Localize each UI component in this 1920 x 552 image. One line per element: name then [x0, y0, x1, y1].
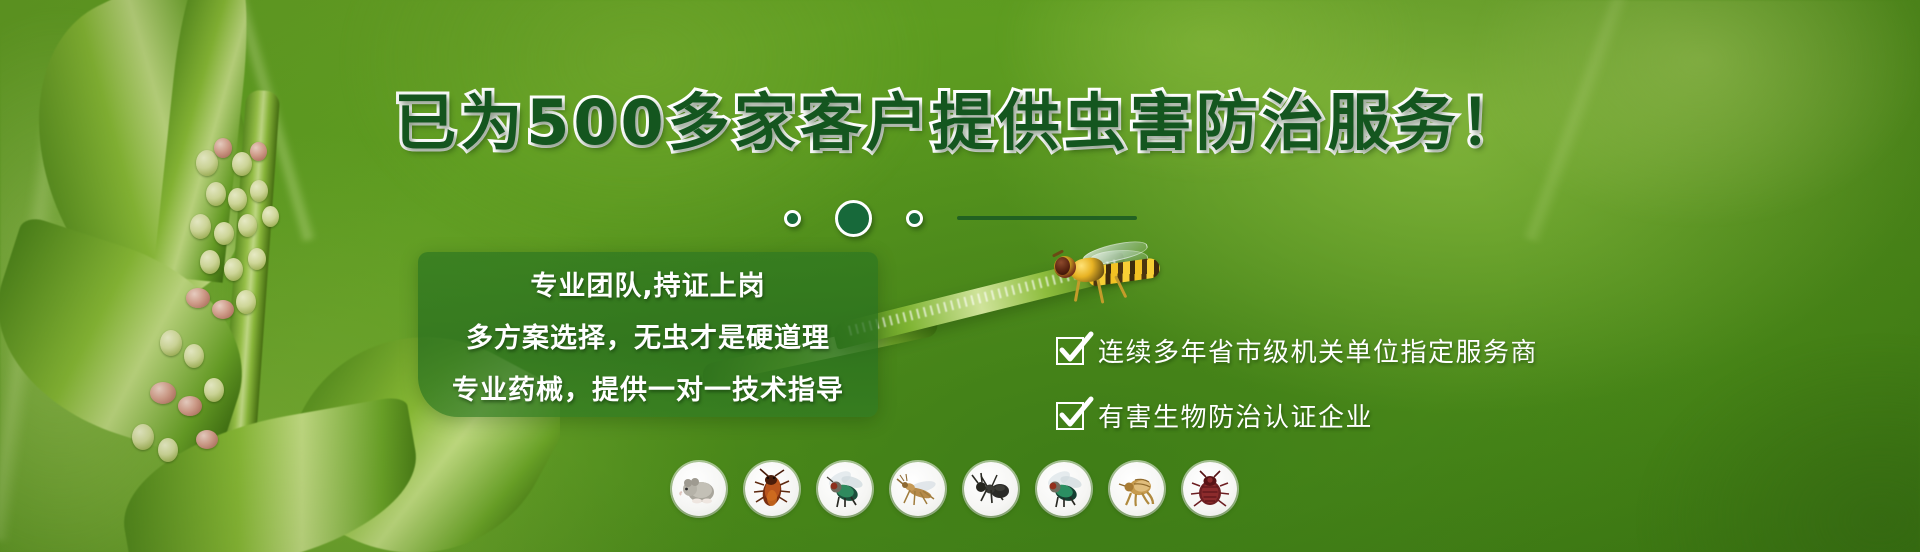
promise-line-3: 专业药械，提供一对一技术指导 — [418, 368, 878, 407]
pest-icon-strip — [672, 462, 1237, 516]
credential-item: 有害生物防治认证企业 — [1056, 397, 1538, 434]
checkbox-checked-icon — [1056, 337, 1084, 365]
divider — [0, 196, 1920, 240]
credential-label: 连续多年省市级机关单位指定服务商 — [1098, 332, 1538, 369]
divider-dot-small-right — [906, 210, 923, 227]
blowfly-icon[interactable] — [1037, 462, 1091, 516]
divider-rule — [957, 216, 1137, 220]
promise-line-2: 多方案选择，无虫才是硬道理 — [418, 316, 878, 355]
credential-item: 连续多年省市级机关单位指定服务商 — [1056, 332, 1538, 369]
divider-dot-small-left — [784, 210, 801, 227]
bedbug-icon[interactable] — [1183, 462, 1237, 516]
credential-label: 有害生物防治认证企业 — [1098, 397, 1373, 434]
divider-dot-large — [835, 200, 872, 237]
mosquito-icon[interactable] — [891, 462, 945, 516]
promise-line-1: 专业团队,持证上岗 — [418, 264, 878, 303]
checkbox-checked-icon — [1056, 402, 1084, 430]
page-title: 已为500多家客户提供虫害防治服务！ — [0, 72, 1920, 162]
promise-box: 专业团队,持证上岗 多方案选择，无虫才是硬道理 专业药械，提供一对一技术指导 — [418, 252, 878, 417]
fly-icon[interactable] — [818, 462, 872, 516]
credential-list: 连续多年省市级机关单位指定服务商 有害生物防治认证企业 — [1056, 332, 1538, 434]
promo-banner: 已为500多家客户提供虫害防治服务！ 专业团队,持证上岗 多方案选择，无虫才是硬… — [0, 0, 1920, 552]
flea-icon[interactable] — [1110, 462, 1164, 516]
ant-icon[interactable] — [964, 462, 1018, 516]
hoverfly-illustration — [1048, 242, 1164, 304]
rodent-icon[interactable] — [672, 462, 726, 516]
cockroach-icon[interactable] — [745, 462, 799, 516]
